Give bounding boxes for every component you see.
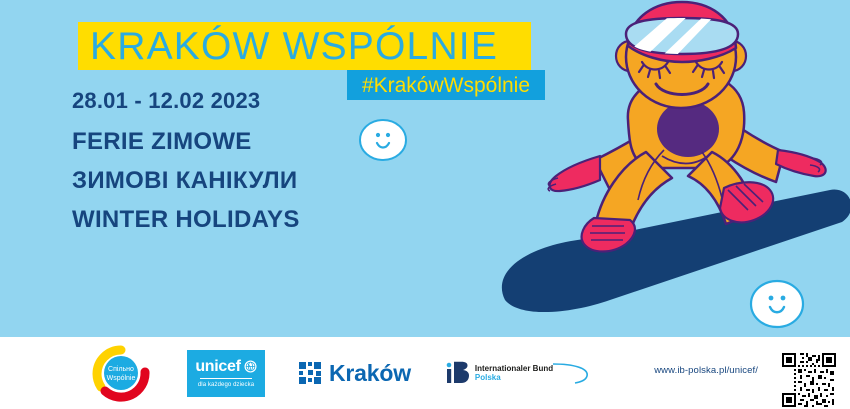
unicef-tagline: dla każdego dziecka (198, 382, 254, 388)
smiley-blob-left (358, 118, 408, 163)
internationaler-bund-logo[interactable]: Internationaler Bund Polska (445, 361, 595, 385)
qr-code[interactable] (780, 351, 838, 409)
event-title-ua: ЗИМОВІ КАНІКУЛИ (72, 169, 300, 193)
krakow-crest-icon (299, 362, 321, 384)
footer-logo-row: Спільно Wspólnie unicef dla (85, 341, 595, 405)
unicef-logo[interactable]: unicef dla każdego dziecka (187, 350, 265, 397)
ib-line-1: Internationaler Bund (475, 364, 553, 373)
event-dates: 28.01 - 12.02 2023 (72, 90, 300, 112)
poster-title-box: KRAKÓW WSPÓLNIE (78, 22, 531, 70)
ib-swoosh-icon (553, 362, 595, 384)
event-title-pl: FERIE ZIMOWE (72, 130, 300, 154)
ib-monogram-icon (445, 361, 471, 385)
krakow-wordmark: Kraków (329, 360, 411, 387)
unicef-globe-icon (244, 360, 257, 373)
event-info-block: 28.01 - 12.02 2023 FERIE ZIMOWE ЗИМОВІ К… (72, 90, 300, 247)
poster-blue-panel: KRAKÓW WSPÓLNIE #KrakówWspólnie 28.01 - … (0, 0, 850, 337)
belly-patch (657, 101, 719, 157)
unicef-divider (200, 378, 252, 379)
unicef-word-text: unicef (195, 359, 240, 375)
smiley-blob-right (748, 278, 806, 330)
poster: KRAKÓW WSPÓLNIE #KrakówWspólnie 28.01 - … (0, 0, 850, 409)
event-title-en: WINTER HOLIDAYS (72, 208, 300, 232)
spilno-wspolnie-logo[interactable]: Спільно Wspólnie (85, 344, 157, 402)
left-mitten (548, 156, 600, 191)
hashtag-label: #KrakówWspólnie (362, 75, 530, 96)
krakow-logo[interactable]: Kraków (299, 360, 411, 387)
unicef-wordmark: unicef (195, 359, 256, 375)
ib-line-2: Polska (475, 373, 553, 382)
page-title: KRAKÓW WSPÓLNIE (90, 27, 498, 66)
website-url[interactable]: www.ib-polska.pl/unicef/ (654, 365, 758, 376)
poster-footer: Спільно Wspólnie unicef dla (0, 337, 850, 409)
svg-text:Спільно: Спільно (108, 365, 134, 373)
right-mitten (776, 150, 826, 176)
hashtag-box: #KrakówWspólnie (347, 70, 545, 100)
ib-wordmark: Internationaler Bund Polska (475, 364, 553, 382)
svg-text:Wspólnie: Wspólnie (107, 375, 136, 382)
